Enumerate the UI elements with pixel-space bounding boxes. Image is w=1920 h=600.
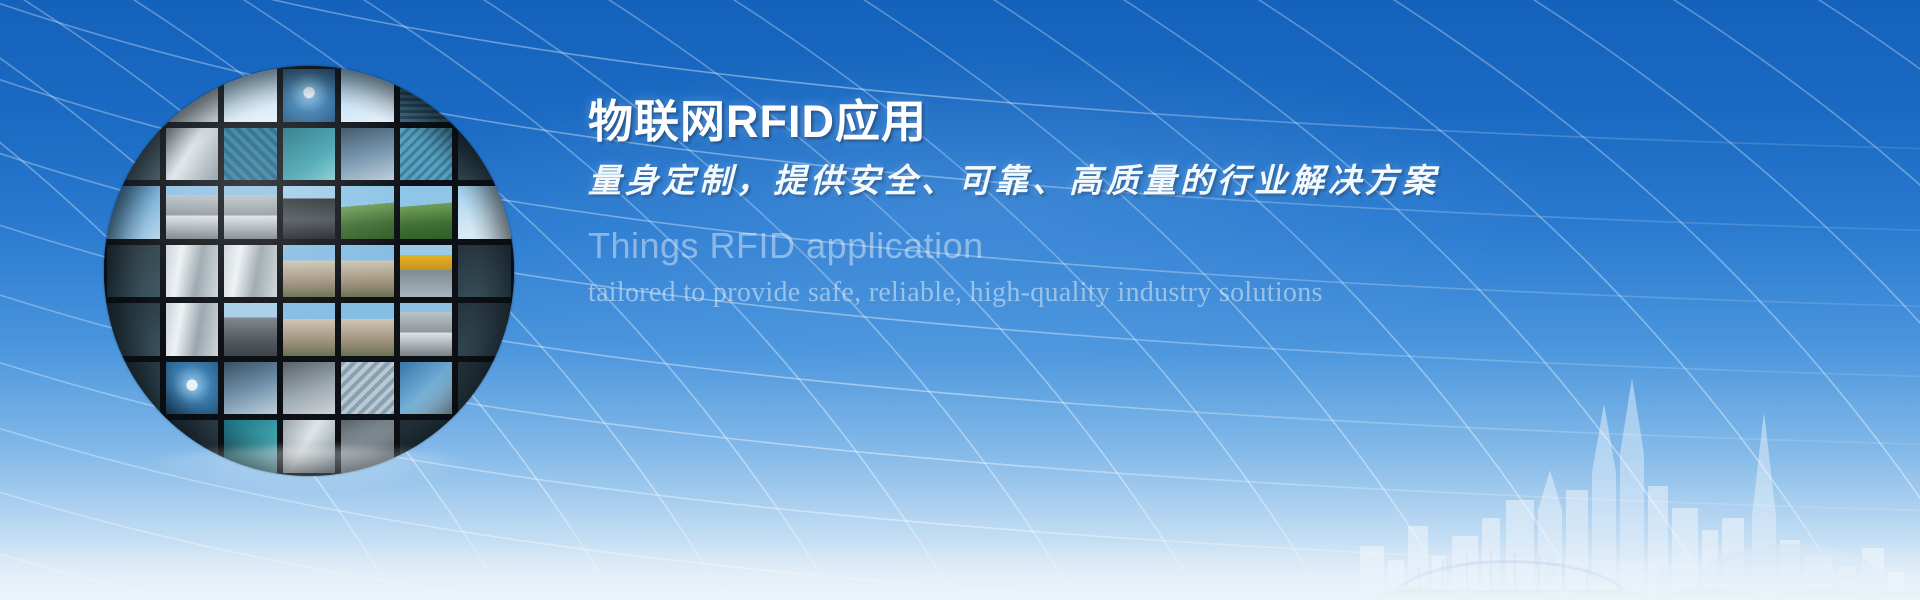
globe-tile	[455, 125, 514, 184]
globe-tile	[104, 300, 163, 359]
globe-tile	[397, 125, 456, 184]
globe-tile	[221, 300, 280, 359]
bridge-graphic	[1395, 546, 1625, 592]
globe-tile	[104, 125, 163, 184]
globe-tile	[397, 66, 456, 125]
globe-tile	[280, 125, 339, 184]
globe-tile	[455, 242, 514, 301]
globe-tile	[163, 417, 222, 476]
city-skyline-graphic	[1360, 350, 1920, 600]
globe-tile	[338, 242, 397, 301]
banner-subheadline-en: Things RFID application	[588, 225, 1828, 266]
globe-tile	[280, 183, 339, 242]
globe-tile	[104, 359, 163, 418]
globe-tile	[280, 359, 339, 418]
globe-tile	[455, 300, 514, 359]
banner-subheadline-cn: 量身定制，提供安全、可靠、高质量的行业解决方案	[588, 162, 1828, 203]
globe-mosaic-tiles	[104, 66, 514, 476]
globe-tile	[280, 417, 339, 476]
globe-tile	[221, 359, 280, 418]
globe-tile	[221, 242, 280, 301]
globe-tile	[221, 417, 280, 476]
globe-tile	[455, 359, 514, 418]
globe-tile	[163, 66, 222, 125]
globe-graphic	[104, 66, 514, 476]
globe-tile	[280, 242, 339, 301]
globe-tile	[397, 183, 456, 242]
hero-banner: 物联网RFID应用 量身定制，提供安全、可靠、高质量的行业解决方案 Things…	[0, 0, 1920, 600]
globe-tile	[104, 417, 163, 476]
globe-tile	[397, 417, 456, 476]
banner-tagline-en: tailored to provide safe, reliable, high…	[588, 276, 1828, 310]
globe-tile	[455, 183, 514, 242]
globe-tile	[338, 417, 397, 476]
globe-tile	[338, 125, 397, 184]
globe-tile	[397, 359, 456, 418]
globe-tile	[338, 359, 397, 418]
globe-tile	[280, 66, 339, 125]
globe-tile	[163, 125, 222, 184]
globe-tile	[455, 417, 514, 476]
globe-tile	[397, 242, 456, 301]
globe-tile	[280, 300, 339, 359]
globe-tile	[397, 300, 456, 359]
globe-tile	[338, 183, 397, 242]
globe-tile	[338, 66, 397, 125]
globe-tile	[221, 66, 280, 125]
globe-tile	[163, 242, 222, 301]
globe-tile	[455, 66, 514, 125]
ground-haze	[0, 540, 1920, 600]
globe-tile	[163, 183, 222, 242]
globe-tile	[104, 66, 163, 125]
banner-headline-cn: 物联网RFID应用	[588, 96, 1828, 148]
globe-tile	[163, 359, 222, 418]
globe-tile	[163, 300, 222, 359]
globe-tile	[338, 300, 397, 359]
globe-tile	[221, 183, 280, 242]
banner-copy: 物联网RFID应用 量身定制，提供安全、可靠、高质量的行业解决方案 Things…	[588, 96, 1828, 310]
globe-tile	[104, 242, 163, 301]
globe-tile	[104, 183, 163, 242]
globe-sphere	[104, 66, 514, 476]
globe-tile	[221, 125, 280, 184]
